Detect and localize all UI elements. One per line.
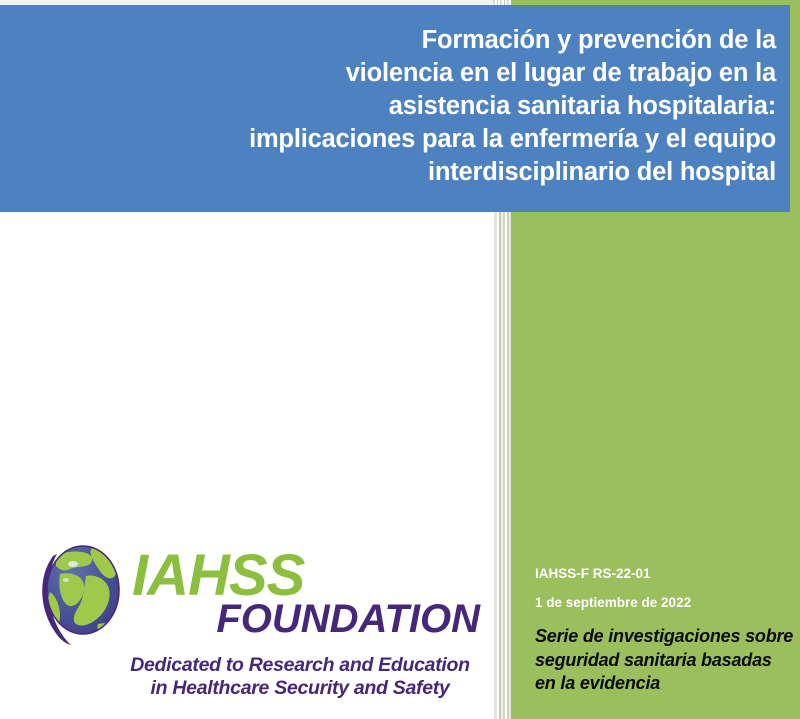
logo-tagline: Dedicated to Research and Education in H… xyxy=(116,654,484,700)
document-cover-page: Formación y prevención de la violencia e… xyxy=(0,0,800,719)
report-metadata-block: IAHSS-F RS-22-01 1 de septiembre de 2022… xyxy=(535,566,797,696)
logo-wordmark-iahss: IAHSS xyxy=(132,548,482,603)
iahss-foundation-logo: IAHSS FOUNDATION Dedicated to Research a… xyxy=(30,536,485,714)
page-title: Formación y prevención de la violencia e… xyxy=(249,24,776,190)
series-title: Serie de investigaciones sobre seguridad… xyxy=(535,625,797,695)
vertical-rule-divider xyxy=(493,212,511,719)
globe-icon xyxy=(36,542,120,646)
publication-date: 1 de septiembre de 2022 xyxy=(535,595,797,611)
logo-wordmark: IAHSS FOUNDATION xyxy=(126,548,482,639)
title-banner: Formación y prevención de la violencia e… xyxy=(0,5,790,212)
report-code: IAHSS-F RS-22-01 xyxy=(535,566,797,582)
